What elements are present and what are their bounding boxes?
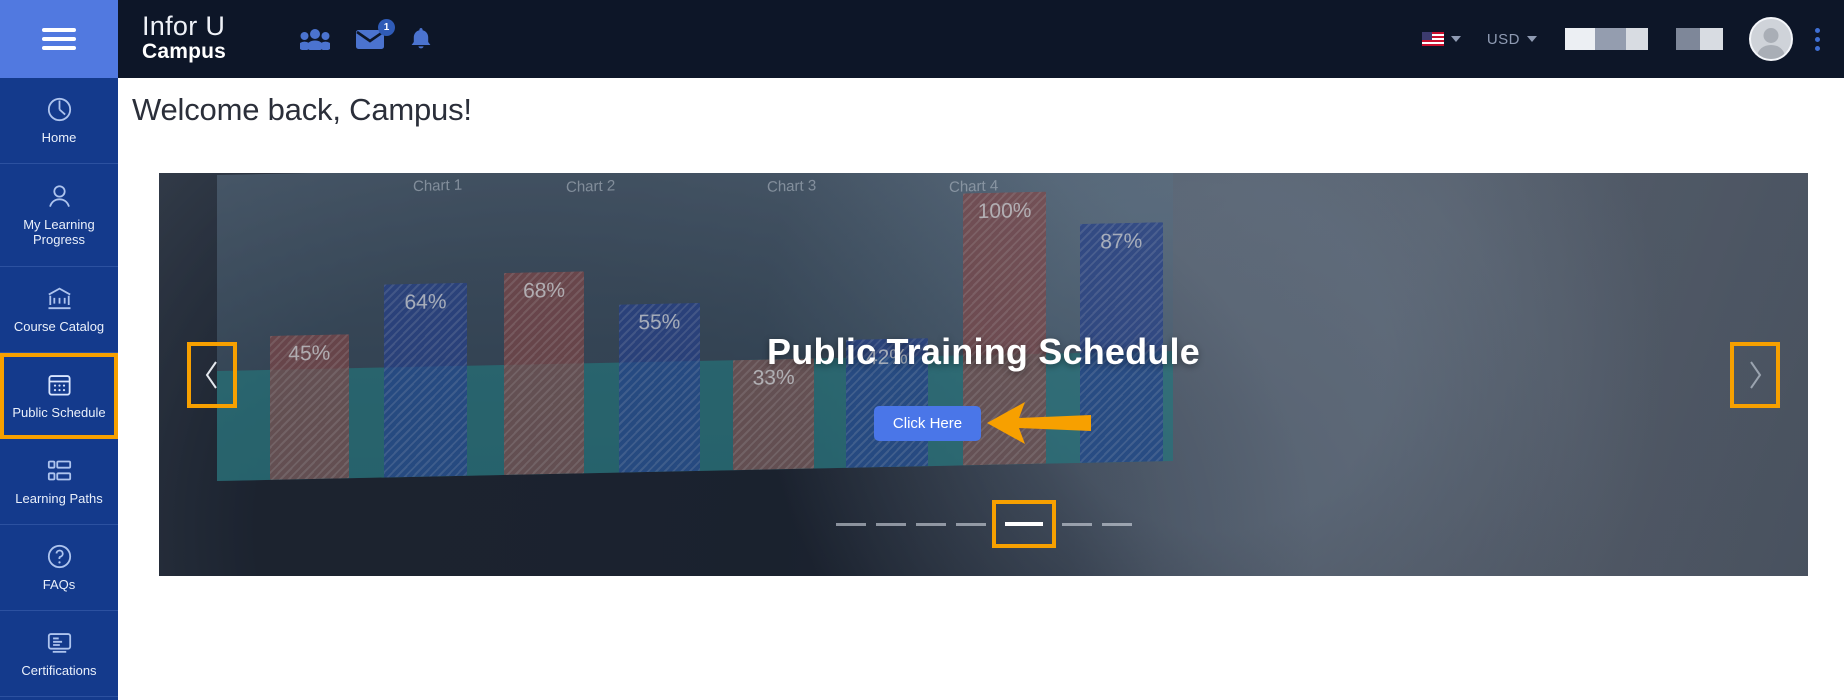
sidebar-item-label: Public Schedule [12,405,105,420]
sidebar: Home My Learning Progress Course Catalog [0,78,118,700]
user-icon [46,183,73,210]
dashboard-icon [46,96,73,123]
redacted-block-1 [1565,28,1648,50]
carousel-dot[interactable] [836,523,866,526]
certificate-icon [46,629,73,656]
language-selector[interactable] [1422,32,1461,46]
sidebar-item-certifications[interactable]: Certifications [0,611,118,697]
carousel-indicators [159,504,1808,544]
sidebar-item-my-learning-progress[interactable]: My Learning Progress [0,164,118,267]
hero-carousel: Chart 1 Chart 2 Chart 3 Chart 4 45% 64% … [159,173,1808,576]
calendar-icon [46,371,73,398]
carousel-prev-button[interactable] [191,346,233,404]
sidebar-item-home[interactable]: Home [0,78,118,164]
sidebar-item-label: Certifications [21,663,96,678]
chevron-left-icon [201,359,223,391]
currency-label: USD [1487,31,1520,48]
carousel-dot[interactable] [876,523,906,526]
click-here-button[interactable]: Click Here [874,406,981,441]
carousel-dot-active-highlight[interactable] [996,504,1052,544]
sidebar-item-label: Course Catalog [14,319,104,334]
hero-cta-group: Click Here [159,398,1808,448]
brand-logo[interactable]: Infor U Campus [142,14,260,65]
carousel-dot[interactable] [1102,523,1132,526]
sidebar-item-label: Learning Paths [15,491,102,506]
brand-line-2: Campus [142,39,260,65]
sidebar-item-public-schedule[interactable]: Public Schedule [0,353,118,439]
avatar[interactable] [1749,17,1793,61]
bell-icon[interactable] [410,27,432,51]
sidebar-item-faqs[interactable]: FAQs [0,525,118,611]
people-icon[interactable] [300,28,330,50]
main-content: Welcome back, Campus! Chart 1 Chart 2 Ch… [118,78,1844,700]
question-icon [46,543,73,570]
chevron-right-icon [1744,359,1766,391]
mail-badge-count: 1 [378,19,395,36]
sidebar-item-label: My Learning Progress [4,217,114,247]
orange-pointer-arrow [985,398,1093,448]
hero-title: Public Training Schedule [159,331,1808,373]
more-options-icon[interactable] [1811,24,1824,55]
carousel-dot[interactable] [1062,523,1092,526]
header-icon-group: 1 [300,27,432,51]
redacted-block-2 [1676,28,1723,50]
sidebar-item-label: FAQs [43,577,76,592]
page-title: Welcome back, Campus! [132,92,472,128]
hamburger-icon [42,23,76,55]
header-right-group: USD [1422,17,1844,61]
sidebar-item-learning-paths[interactable]: Learning Paths [0,439,118,525]
list-icon [46,457,73,484]
chevron-down-icon [1451,36,1461,42]
carousel-dot[interactable] [916,523,946,526]
carousel-dot[interactable] [956,523,986,526]
carousel-dot-active[interactable] [1005,522,1043,526]
currency-selector[interactable]: USD [1487,31,1537,48]
top-header: Infor U Campus 1 [0,0,1844,78]
chevron-down-icon [1527,36,1537,42]
us-flag-icon [1422,32,1444,46]
brand-line-1: Infor U [142,14,260,39]
hamburger-menu-button[interactable] [0,0,118,78]
bank-icon [46,285,73,312]
mail-icon[interactable]: 1 [356,29,384,50]
sidebar-item-course-catalog[interactable]: Course Catalog [0,267,118,353]
sidebar-item-label: Home [42,130,77,145]
carousel-next-button[interactable] [1734,346,1776,404]
